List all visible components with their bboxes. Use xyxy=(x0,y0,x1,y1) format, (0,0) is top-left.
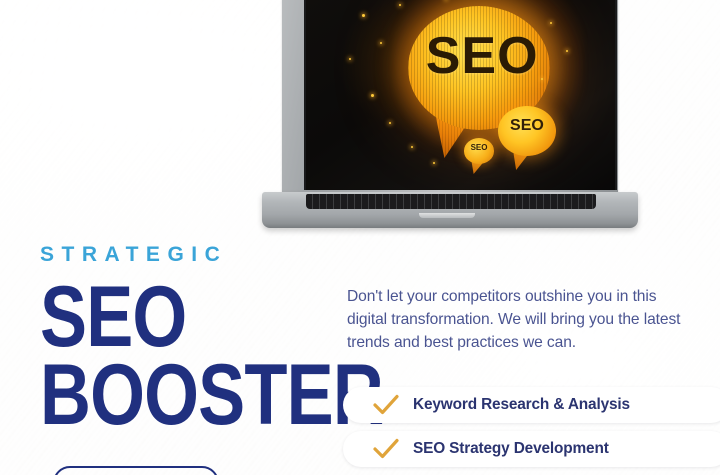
laptop-lid: SEO SEO SEO xyxy=(282,0,618,196)
spark-particle xyxy=(389,122,391,124)
kicker-text: STRATEGIC xyxy=(40,244,340,265)
page-title-line-1: SEO xyxy=(40,281,286,353)
check-icon xyxy=(373,394,399,416)
spark-particle xyxy=(541,78,543,80)
speech-bubble-mid-label: SEO xyxy=(498,118,557,134)
spark-particle xyxy=(411,146,413,148)
spark-particle xyxy=(433,162,435,164)
laptop-trackpad-notch xyxy=(419,213,475,218)
spark-particle xyxy=(399,4,401,6)
headline-block: STRATEGIC SEO BOOSTER xyxy=(40,244,340,431)
list-item[interactable]: Keyword Research & Analysis xyxy=(343,387,720,423)
list-item[interactable]: SEO Strategy Development xyxy=(343,431,720,467)
cta-button[interactable] xyxy=(53,466,219,475)
right-column: Don't let your competitors outshine you … xyxy=(347,286,720,355)
feature-list: Keyword Research & Analysis SEO Strategy… xyxy=(343,387,720,475)
laptop-keyboard xyxy=(306,194,596,209)
spark-particle xyxy=(566,50,568,52)
check-icon xyxy=(373,438,399,460)
speech-bubble-main-label: SEO xyxy=(417,30,547,82)
laptop-screen: SEO SEO SEO xyxy=(306,0,615,190)
poster-canvas: SEO SEO SEO xyxy=(0,0,720,475)
spark-particle xyxy=(371,94,374,97)
list-item-label: Keyword Research & Analysis xyxy=(413,396,630,414)
page-title-line-2: BOOSTER xyxy=(40,359,286,431)
laptop-hero-image: SEO SEO SEO xyxy=(262,0,638,232)
spark-particle xyxy=(380,42,382,44)
spark-particle xyxy=(362,14,365,17)
list-item-label: SEO Strategy Development xyxy=(413,440,609,458)
lead-paragraph: Don't let your competitors outshine you … xyxy=(347,286,697,355)
speech-bubble-small-label: SEO xyxy=(464,144,495,152)
spark-particle xyxy=(349,58,351,60)
laptop-screen-bezel: SEO SEO SEO xyxy=(304,0,617,190)
